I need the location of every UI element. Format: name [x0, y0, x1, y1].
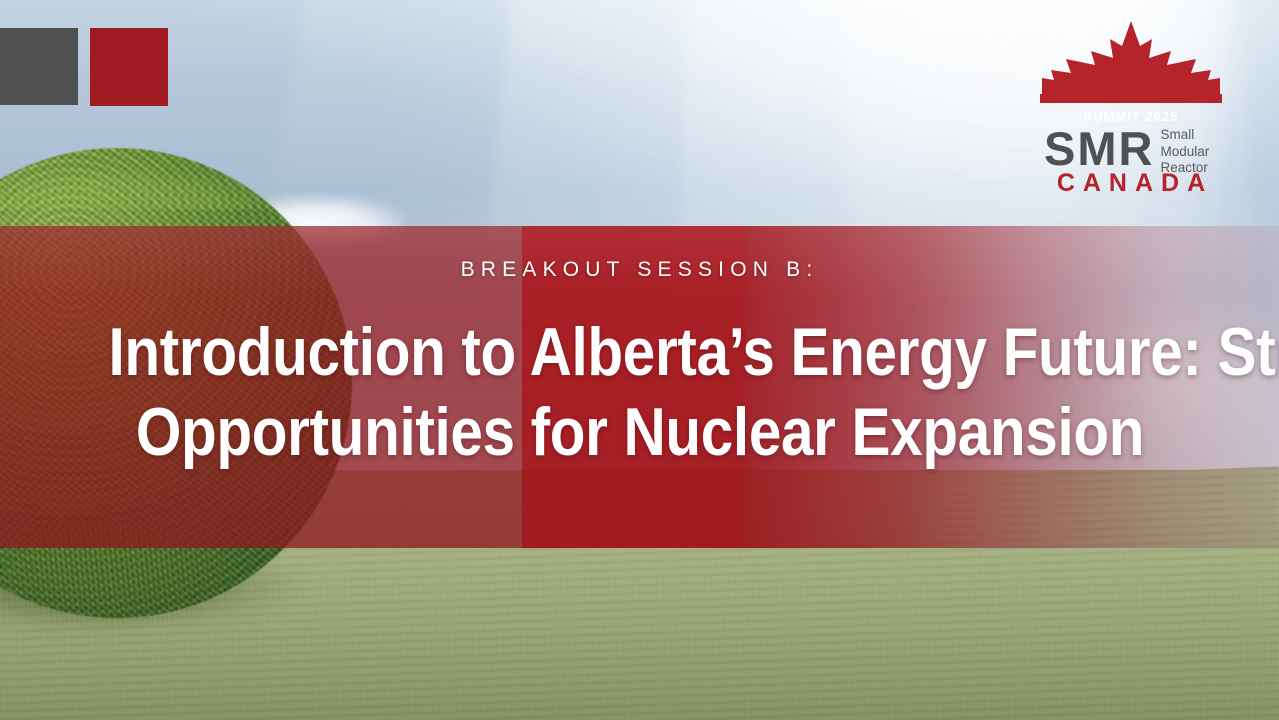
presentation-slide: BREAKOUT SESSION B: Introduction to Albe…: [0, 0, 1279, 720]
moss-globe-fringe: [0, 140, 370, 210]
smr-word-modular: Modular: [1160, 144, 1209, 161]
canada-label: CANADA: [1036, 170, 1226, 196]
smr-mark: SMR: [1036, 125, 1154, 172]
page-title: Introduction to Alberta’s Energy Future:…: [109, 312, 1172, 472]
red-square-decoration: [90, 28, 168, 106]
gray-square-decoration: [0, 28, 78, 105]
maple-leaf-icon: [1036, 18, 1226, 110]
page-title-line-2: Opportunities for Nuclear Expansion: [109, 392, 1172, 472]
session-eyebrow: BREAKOUT SESSION B:: [0, 258, 1279, 282]
smr-canada-logo: SUMMIT 2025 SMR Small Modular Reactor CA…: [1036, 18, 1226, 190]
smr-word-small: Small: [1160, 127, 1209, 144]
page-title-line-1: Introduction to Alberta’s Energy Future:…: [109, 312, 1172, 392]
